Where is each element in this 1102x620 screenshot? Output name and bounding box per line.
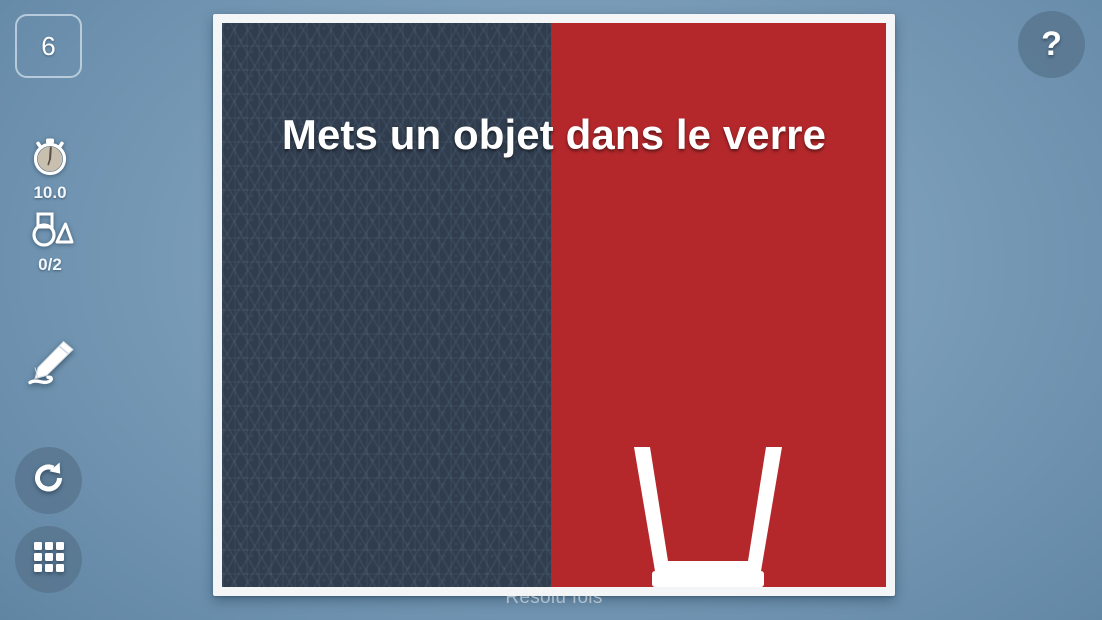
shapes-stat: 0/2 [0,208,100,275]
puzzle-instruction: Mets un objet dans le verre [222,111,886,159]
solved-caption: Résolu fois [222,587,886,609]
glass-shape[interactable] [628,425,788,587]
timer-stat: 10.0 [0,132,100,203]
timer-value: 10.0 [33,183,66,203]
draw-button[interactable] [20,336,82,394]
puzzle-board[interactable]: Mets un objet dans le verre [222,23,886,587]
sidebar: 6 10.0 0/2 [0,0,200,620]
reload-button[interactable] [15,447,82,514]
grid-apps-icon [31,539,67,580]
shapes-icon [26,208,74,252]
pencil-icon [24,338,78,393]
board-left-half [222,23,551,587]
question-mark-icon: ? [1041,27,1062,61]
shapes-value: 0/2 [38,255,62,275]
reload-icon [29,458,69,503]
level-badge: 6 [15,14,82,78]
level-number: 6 [41,31,55,62]
stopwatch-icon [26,132,74,180]
help-button[interactable]: ? [1018,11,1085,78]
levels-button[interactable] [15,526,82,593]
